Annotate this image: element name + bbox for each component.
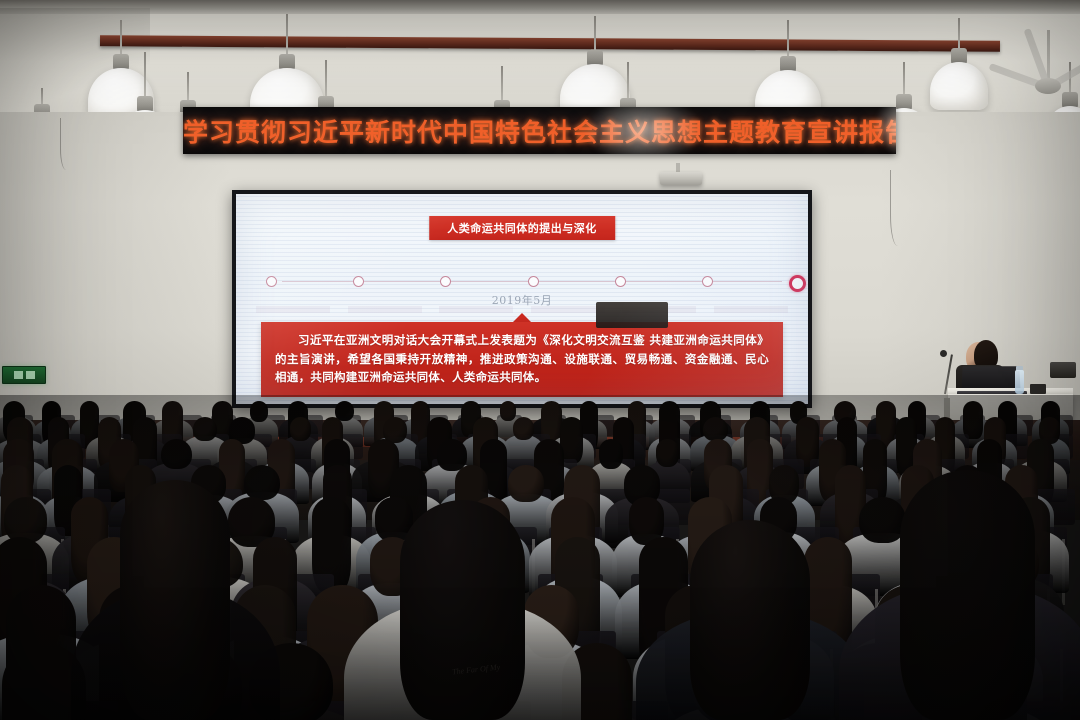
faint-label bbox=[348, 306, 422, 313]
ceiling bbox=[0, 0, 1080, 112]
screen-scanline bbox=[236, 204, 808, 205]
timeline-marker bbox=[440, 276, 451, 287]
podium-object bbox=[1030, 384, 1046, 394]
timeline-marker bbox=[353, 276, 364, 287]
av-equipment bbox=[1050, 362, 1076, 378]
faint-label bbox=[531, 306, 605, 313]
foreground-audience-head bbox=[400, 500, 525, 720]
lamp-cord bbox=[144, 52, 146, 96]
lamp-cord bbox=[594, 16, 596, 50]
projection-screen-frame: 人类命运共同体的提出与深化 2019年5月 习近平在亚洲文明对话大会开幕式上发表… bbox=[232, 190, 812, 408]
audience-member-head bbox=[244, 465, 280, 500]
screen-obstruction bbox=[596, 302, 668, 328]
audience-member-head bbox=[437, 439, 467, 471]
audience-member-head bbox=[513, 417, 534, 440]
screen-scanline bbox=[236, 260, 808, 261]
screen-scanline bbox=[236, 288, 808, 289]
exit-sign-glyph bbox=[26, 371, 35, 379]
screen-scanline bbox=[236, 272, 808, 273]
lecture-hall-photo: 学习贯彻习近平新时代中国特色社会主义思想主题教育宣讲报告会 人类命运共同体的提出… bbox=[0, 0, 1080, 720]
audience-member-head bbox=[703, 417, 728, 441]
wall-cable bbox=[890, 170, 909, 246]
projection-screen: 人类命运共同体的提出与深化 2019年5月 习近平在亚洲文明对话大会开幕式上发表… bbox=[236, 194, 808, 404]
audience-member-head bbox=[193, 417, 217, 441]
lamp-cord bbox=[120, 20, 122, 54]
lamp-cord bbox=[627, 62, 629, 98]
exit-sign-glyph bbox=[14, 371, 23, 379]
slide-callout-text: 习近平在亚洲文明对话大会开幕式上发表题为《深化文明交流互鉴 共建亚洲命运共同体》… bbox=[275, 331, 769, 387]
slide-timeline bbox=[270, 276, 794, 288]
exit-sign bbox=[2, 366, 46, 384]
lamp-cord bbox=[903, 62, 905, 94]
screen-scanline bbox=[236, 248, 808, 249]
audience-member-head bbox=[250, 401, 269, 422]
projector bbox=[660, 172, 702, 185]
timeline-marker bbox=[615, 276, 626, 287]
screen-scanline bbox=[236, 244, 808, 245]
timeline-marker bbox=[266, 276, 277, 287]
fan-hub bbox=[1035, 78, 1061, 94]
audience-member-head bbox=[508, 465, 543, 502]
screen-scanline bbox=[236, 200, 808, 201]
audience: The Far Of My bbox=[0, 395, 1080, 720]
foreground-audience-head bbox=[900, 470, 1035, 720]
slide-callout-box: 习近平在亚洲文明对话大会开幕式上发表题为《深化文明交流互鉴 共建亚洲命运共同体》… bbox=[261, 322, 783, 397]
foreground-audience-head bbox=[120, 480, 230, 720]
lamp-cord bbox=[787, 20, 789, 56]
screen-scanline bbox=[236, 240, 808, 241]
audience-member-head bbox=[859, 497, 905, 543]
screen-scanline bbox=[236, 212, 808, 213]
slide-title: 人类命运共同体的提出与深化 bbox=[429, 216, 615, 240]
lamp-cord bbox=[958, 18, 960, 48]
screen-scanline bbox=[236, 252, 808, 253]
timeline-marker bbox=[528, 276, 539, 287]
faint-label bbox=[439, 306, 513, 313]
audience-member-head bbox=[290, 417, 311, 441]
water-bottle bbox=[1015, 370, 1024, 394]
banner-title: 学习贯彻习近平新时代中国特色社会主义思想主题教育宣讲报告会 bbox=[183, 113, 896, 149]
banner-light-glare bbox=[583, 107, 703, 154]
wall-cable bbox=[60, 118, 75, 170]
screen-scanline bbox=[236, 268, 808, 269]
ceiling-fan bbox=[988, 30, 1080, 120]
screen-scanline bbox=[236, 208, 808, 209]
audience-member-head bbox=[656, 439, 679, 467]
lamp-cord bbox=[325, 60, 327, 96]
lamp-cord bbox=[501, 66, 503, 100]
lamp-cord bbox=[187, 72, 189, 100]
audience-member-head bbox=[963, 401, 984, 439]
screen-scanline bbox=[236, 256, 808, 257]
audience-member-head bbox=[599, 439, 623, 469]
audience-member-head bbox=[500, 401, 516, 421]
screen-scanline bbox=[236, 196, 808, 197]
ceiling-slab bbox=[0, 0, 1080, 14]
screen-scanline bbox=[236, 264, 808, 265]
lamp-cord bbox=[286, 14, 288, 54]
banner-light-glare bbox=[873, 107, 896, 154]
microphone-icon bbox=[940, 350, 947, 357]
lamp-cord bbox=[41, 88, 43, 104]
faint-label bbox=[714, 306, 788, 313]
faint-label bbox=[256, 306, 330, 313]
event-banner: 学习贯彻习近平新时代中国特色社会主义思想主题教育宣讲报告会 bbox=[183, 107, 896, 154]
audience-member-head bbox=[4, 497, 48, 543]
foreground-audience-head bbox=[690, 520, 810, 720]
audience-member-head bbox=[161, 439, 192, 469]
timeline-marker bbox=[702, 276, 713, 287]
timeline-marker-active bbox=[789, 275, 806, 292]
